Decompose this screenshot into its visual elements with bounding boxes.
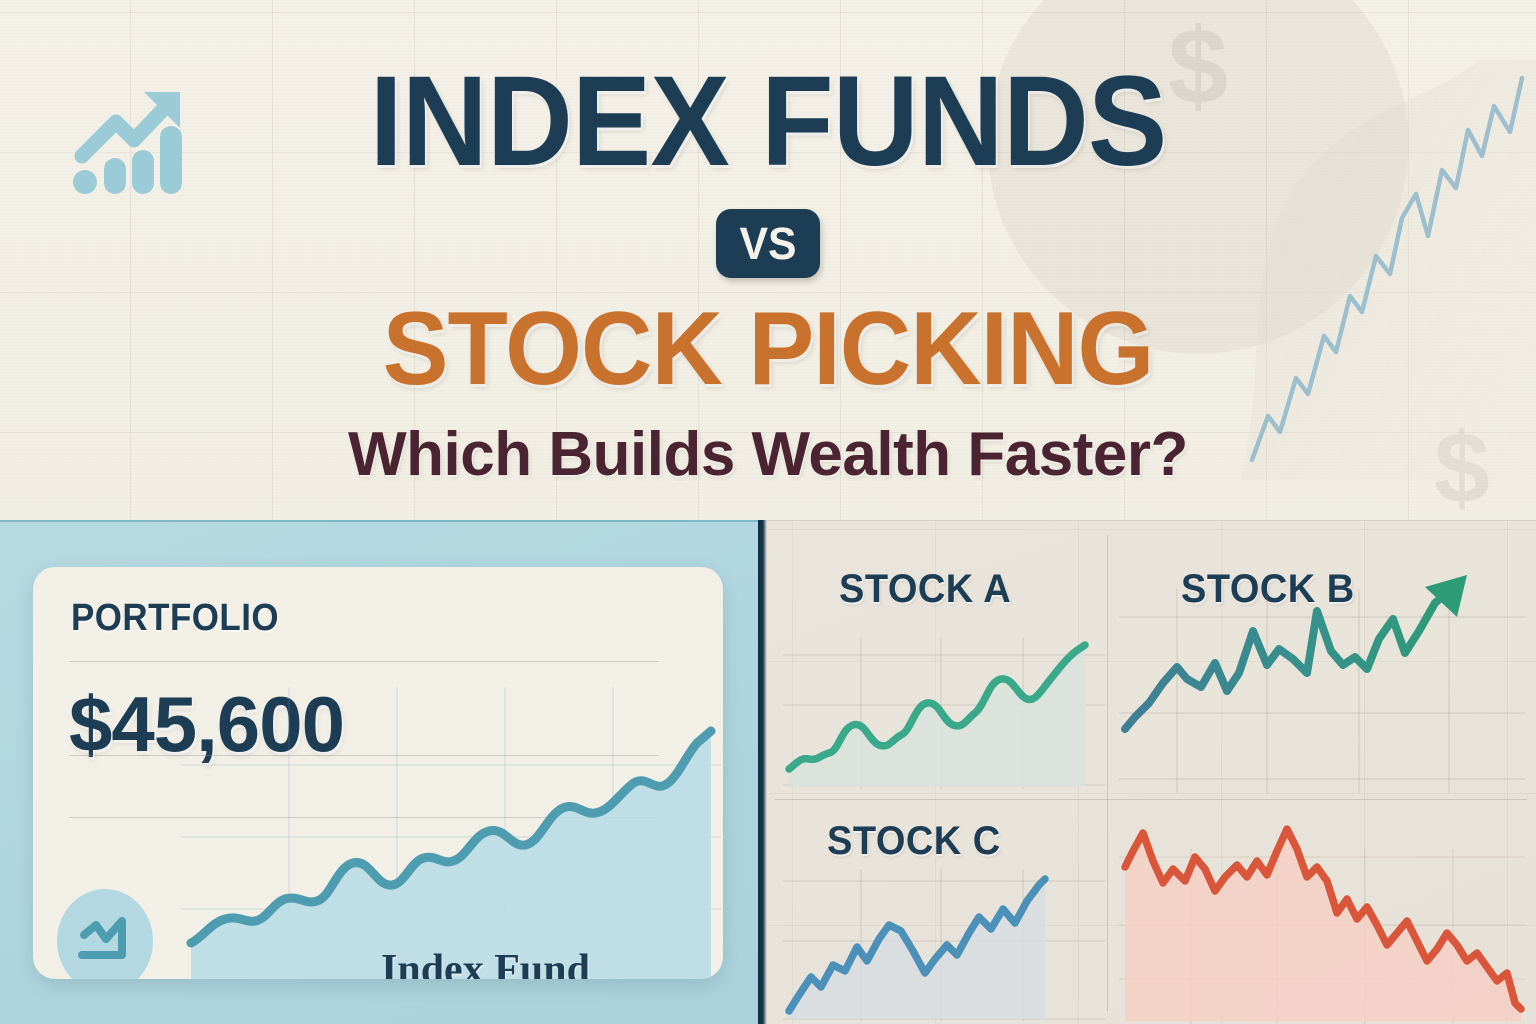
card-divider xyxy=(69,661,659,662)
stock-picking-panel: STOCK A STOCK B xyxy=(767,520,1536,1024)
quadrant-divider-horizontal xyxy=(775,799,1527,800)
portfolio-label: PORTFOLIO xyxy=(71,597,279,640)
quadrant-declining-stock xyxy=(1119,807,1527,1024)
quadrant-stock-b: STOCK B xyxy=(1119,529,1527,797)
page-tagline: Which Builds Wealth Faster? xyxy=(0,424,1536,486)
declining-stock-chart xyxy=(1119,821,1525,1024)
index-fund-chart xyxy=(181,687,721,979)
title-block: INDEX FUNDS VS STOCK PICKING Which Build… xyxy=(0,0,1536,520)
infographic-root: $ $ INDEX FUNDS xyxy=(0,0,1536,1024)
quadrant-title: STOCK C xyxy=(827,819,1001,864)
quadrant-stock-a: STOCK A xyxy=(777,529,1107,797)
stock-b-chart xyxy=(1119,569,1525,793)
header-section: $ $ INDEX FUNDS xyxy=(0,0,1536,520)
series-label-index-fund: Index Fund xyxy=(381,946,590,979)
quadrant-divider-vertical xyxy=(1107,535,1108,1011)
comparison-section: PORTFOLIO $45,600 xyxy=(0,520,1536,1024)
vs-badge-label: VS xyxy=(739,218,796,270)
portfolio-card: PORTFOLIO $45,600 xyxy=(33,567,723,979)
stock-c-chart xyxy=(783,869,1105,1021)
panel-divider xyxy=(758,520,767,1024)
line-chart-icon-badge xyxy=(57,889,153,979)
index-fund-panel: PORTFOLIO $45,600 xyxy=(0,520,758,1024)
page-subtitle: STOCK PICKING xyxy=(38,297,1497,401)
line-chart-icon xyxy=(76,915,134,967)
vs-badge: VS xyxy=(716,209,820,278)
quadrant-stock-c: STOCK C xyxy=(777,807,1107,1024)
quadrant-title: STOCK A xyxy=(839,567,1011,612)
stock-a-chart xyxy=(783,637,1105,789)
page-title: INDEX FUNDS xyxy=(54,58,1482,186)
